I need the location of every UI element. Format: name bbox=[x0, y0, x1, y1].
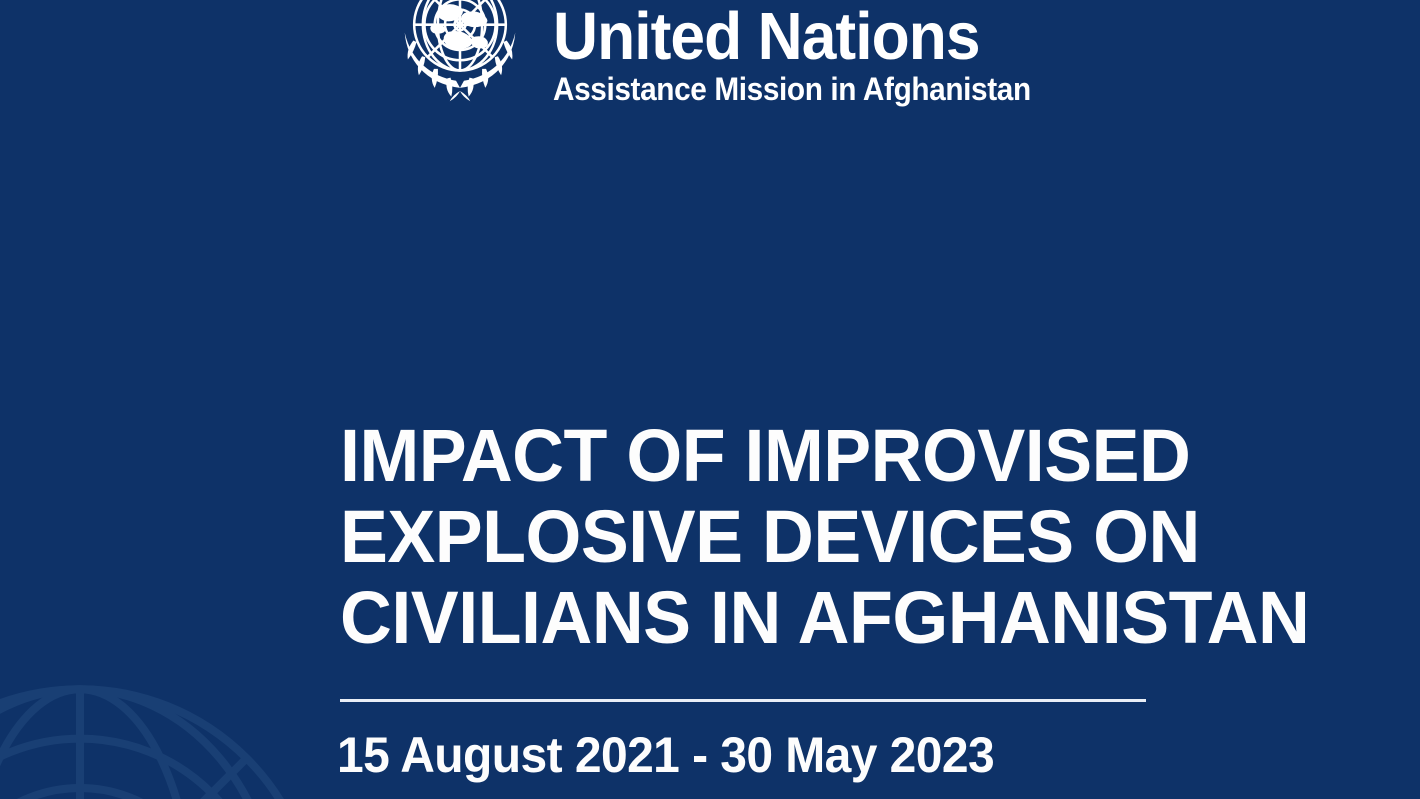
unama-logo-lockup: United Nations Assistance Mission in Afg… bbox=[381, 0, 1067, 110]
un-wordmark: United Nations Assistance Mission in Afg… bbox=[553, 0, 1067, 106]
title-divider bbox=[340, 699, 1146, 702]
un-emblem-icon bbox=[381, 0, 539, 110]
page-title: IMPACT OF IMPROVISED EXPLOSIVE DEVICES O… bbox=[340, 415, 1310, 658]
mission-name: Assistance Mission in Afghanistan bbox=[553, 72, 1031, 107]
organization-name: United Nations bbox=[553, 4, 1031, 70]
title-block: IMPACT OF IMPROVISED EXPLOSIVE DEVICES O… bbox=[340, 415, 1340, 780]
date-range: 15 August 2021 - 30 May 2023 bbox=[337, 730, 1300, 780]
report-cover-page: United Nations Assistance Mission in Afg… bbox=[0, 0, 1420, 799]
